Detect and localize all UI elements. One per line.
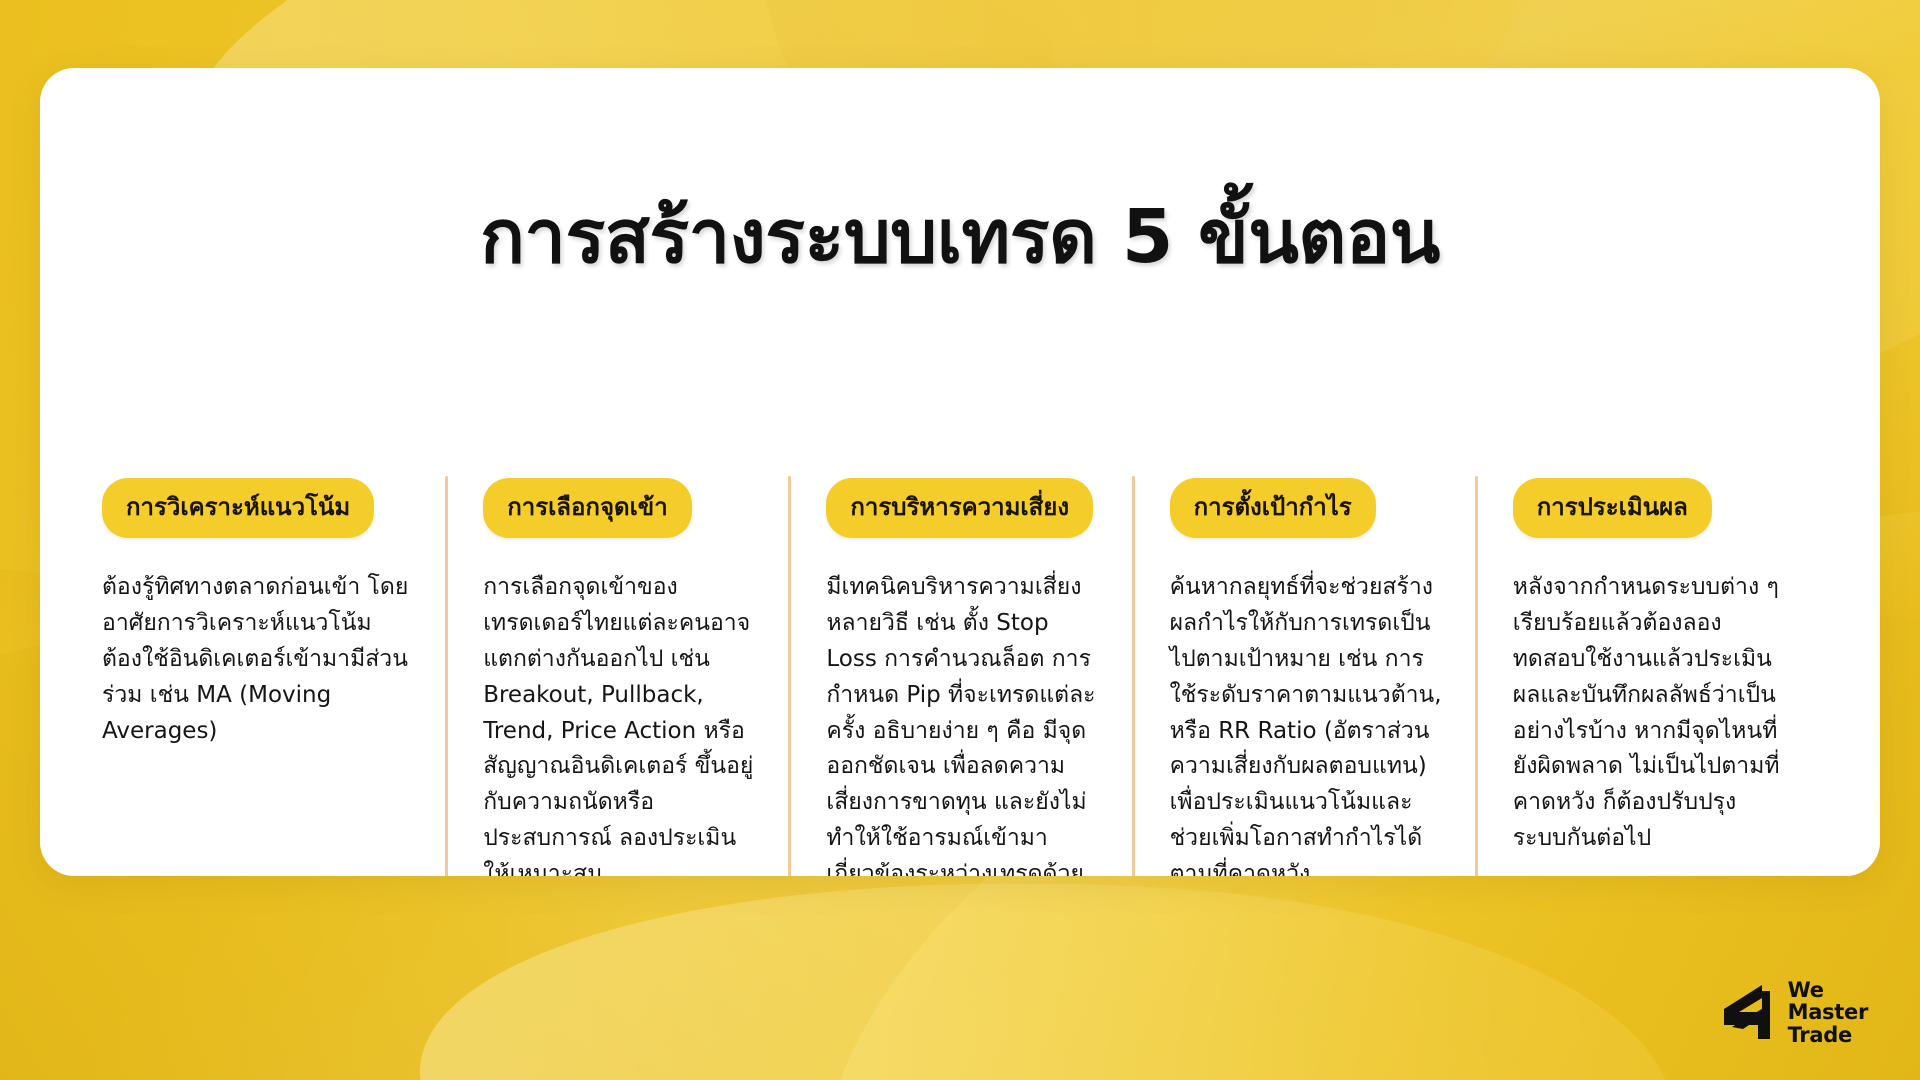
step-body-3: มีเทคนิคบริหารความเสี่ยงหลายวิธี เช่น ตั… xyxy=(826,570,1103,876)
steps-columns: การวิเคราะห์แนวโน้ม ต้องรู้ทิศทางตลาดก่อ… xyxy=(102,478,1818,876)
step-body-2: การเลือกจุดเข้าของเทรดเดอร์ไทยแต่ละคนอาจ… xyxy=(483,570,760,876)
step-badge-3: การบริหารความเสี่ยง xyxy=(826,478,1093,538)
brand-logo: We Master Trade xyxy=(1718,979,1868,1046)
step-column-2: การเลือกจุดเข้า การเลือกจุดเข้าของเทรดเด… xyxy=(445,478,788,876)
step-body-5: หลังจากกำหนดระบบต่าง ๆ เรียบร้อยแล้วต้อง… xyxy=(1513,570,1790,857)
step-column-5: การประเมินผล หลังจากกำหนดระบบต่าง ๆ เรีย… xyxy=(1475,478,1818,857)
slide-canvas: การสร้างระบบเทรด 5 ขั้นตอน การวิเคราะห์แ… xyxy=(0,0,1920,1080)
step-badge-4: การตั้งเป้ากำไร xyxy=(1170,478,1376,538)
step-column-1: การวิเคราะห์แนวโน้ม ต้องรู้ทิศทางตลาดก่อ… xyxy=(102,478,445,749)
step-body-1: ต้องรู้ทิศทางตลาดก่อนเข้า โดยอาศัยการวิเ… xyxy=(102,570,417,749)
step-badge-2: การเลือกจุดเข้า xyxy=(483,478,692,538)
wmt-arrow-mark-icon xyxy=(1718,981,1774,1043)
content-card: การสร้างระบบเทรด 5 ขั้นตอน การวิเคราะห์แ… xyxy=(40,68,1880,876)
page-title: การสร้างระบบเทรด 5 ขั้นตอน xyxy=(40,196,1880,279)
step-column-3: การบริหารความเสี่ยง มีเทคนิคบริหารความเส… xyxy=(788,478,1131,876)
step-badge-5: การประเมินผล xyxy=(1513,478,1712,538)
brand-logo-text: We Master Trade xyxy=(1788,979,1868,1046)
step-badge-1: การวิเคราะห์แนวโน้ม xyxy=(102,478,374,538)
step-body-4: ค้นหากลยุทธ์ที่จะช่วยสร้างผลกำไรให้กับกา… xyxy=(1170,570,1447,876)
step-column-4: การตั้งเป้ากำไร ค้นหากลยุทธ์ที่จะช่วยสร้… xyxy=(1132,478,1475,876)
